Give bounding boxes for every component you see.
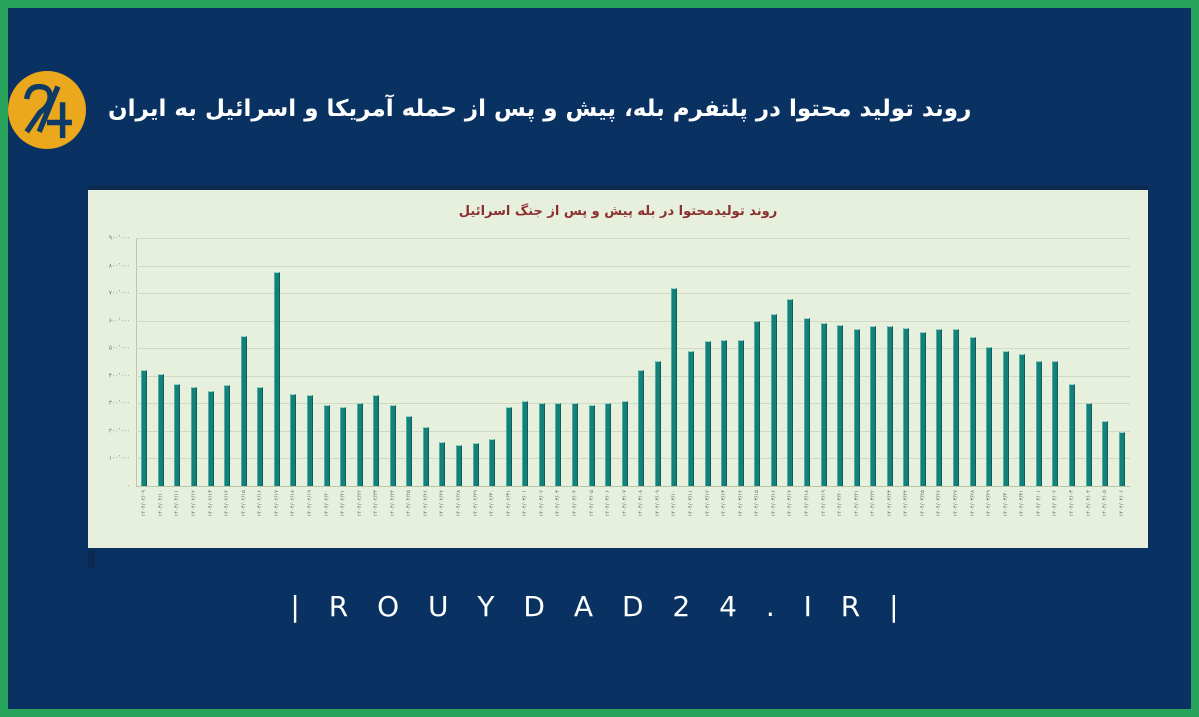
y-axis-tick-label: ۵۰۰٬۰۰۰ bbox=[109, 345, 130, 352]
bar-slot[interactable]: ۱۴۰۴/۰۲/۱۱ bbox=[169, 238, 186, 486]
x-axis-tick-label: ۱۴۰۴/۰۳/۲۰ bbox=[837, 490, 843, 517]
y-axis-tick-label: ۰ bbox=[127, 483, 130, 490]
bar-slot[interactable]: ۱۴۰۴/۰۳/۱۳ bbox=[716, 238, 733, 486]
x-axis-tick-label: ۱۴۰۴/۰۲/۲۲ bbox=[357, 490, 363, 517]
x-axis-tick-label: ۱۴۰۴/۰۳/۲۲ bbox=[870, 490, 876, 517]
bar[interactable] bbox=[324, 405, 330, 486]
bar[interactable] bbox=[837, 325, 843, 486]
bar[interactable] bbox=[655, 361, 661, 486]
bar-slot[interactable]: ۱۴۰۴/۰۳/۲۱ bbox=[848, 238, 865, 486]
bar-slot[interactable]: ۱۴۰۴/۰۲/۱۸ bbox=[285, 238, 302, 486]
bar-slot[interactable]: ۱۴۰۴/۰۲/۲۳ bbox=[368, 238, 385, 486]
bar-slot[interactable]: ۱۴۰۴/۰۴/۰۱ bbox=[1031, 238, 1048, 486]
bar[interactable] bbox=[1003, 351, 1009, 486]
bar-slot[interactable]: ۱۴۰۴/۰۳/۲۴ bbox=[898, 238, 915, 486]
bar[interactable] bbox=[439, 442, 445, 486]
x-axis-tick-label: ۱۴۰۴/۰۳/۰۶ bbox=[605, 490, 611, 517]
x-axis-tick-label: ۱۴۰۴/۰۳/۰۱ bbox=[522, 490, 528, 517]
bar-slot[interactable]: ۱۴۰۴/۰۳/۱۷ bbox=[782, 238, 799, 486]
bar[interactable] bbox=[920, 332, 926, 486]
plot-area: ۹۰۰٬۰۰۰۸۰۰٬۰۰۰۷۰۰٬۰۰۰۶۰۰٬۰۰۰۵۰۰٬۰۰۰۴۰۰٬۰… bbox=[136, 238, 1130, 486]
panel-top-rule bbox=[88, 186, 1148, 190]
x-axis-tick-label: ۱۴۰۴/۰۲/۱۹ bbox=[307, 490, 313, 517]
bar-slot[interactable]: ۱۴۰۴/۰۳/۱۲ bbox=[699, 238, 716, 486]
bar[interactable] bbox=[671, 288, 677, 486]
bar[interactable] bbox=[721, 340, 727, 486]
x-axis-tick-label: ۱۴۰۴/۰۳/۲۹ bbox=[986, 490, 992, 517]
bar[interactable] bbox=[986, 347, 992, 486]
x-axis-tick-label: ۱۴۰۴/۰۲/۲۱ bbox=[340, 490, 346, 517]
y-axis-tick-label: ۶۰۰٬۰۰۰ bbox=[109, 317, 130, 324]
bar-slot[interactable]: ۱۴۰۴/۰۳/۲۷ bbox=[948, 238, 965, 486]
x-axis-tick-label: ۱۴۰۴/۰۴/۰۵ bbox=[1102, 490, 1108, 517]
bar[interactable] bbox=[572, 403, 578, 486]
y-axis-tick-label: ۹۰۰٬۰۰۰ bbox=[109, 235, 130, 242]
x-axis-tick-label: ۱۴۰۴/۰۲/۲۳ bbox=[373, 490, 379, 517]
bar[interactable] bbox=[688, 351, 694, 486]
x-axis-tick-label: ۱۴۰۴/۰۳/۱۸ bbox=[804, 490, 810, 517]
site-watermark: | R O U Y D A D 2 4 . I R | bbox=[8, 590, 1191, 623]
x-axis-tick-label: ۱۴۰۴/۰۴/۰۳ bbox=[1069, 490, 1075, 517]
x-axis-tick-label: ۱۴۰۴/۰۲/۱۲ bbox=[191, 490, 197, 517]
x-axis-tick-label: ۱۴۰۴/۰۳/۰۵ bbox=[589, 490, 595, 517]
x-axis-tick-label: ۱۴۰۴/۰۲/۱۶ bbox=[257, 490, 263, 517]
bar[interactable] bbox=[622, 401, 628, 486]
bar-slot[interactable]: ۱۴۰۴/۰۳/۲۳ bbox=[882, 238, 899, 486]
x-axis-tick-label: ۱۴۰۴/۰۳/۱۶ bbox=[771, 490, 777, 517]
x-axis-tick-label: ۱۴۰۴/۰۳/۱۲ bbox=[705, 490, 711, 517]
bar-series: ۱۴۰۴/۰۲/۰۹۱۴۰۴/۰۲/۱۰۱۴۰۴/۰۲/۱۱۱۴۰۴/۰۲/۱۲… bbox=[136, 238, 1130, 486]
bar-slot[interactable]: ۱۴۰۴/۰۲/۳۱ bbox=[500, 238, 517, 486]
bar[interactable] bbox=[539, 403, 545, 486]
bar-slot[interactable]: ۱۴۰۴/۰۲/۲۹ bbox=[467, 238, 484, 486]
bar[interactable] bbox=[406, 416, 412, 486]
bar-slot[interactable]: ۱۴۰۴/۰۲/۳۰ bbox=[484, 238, 501, 486]
infographic-canvas: روند تولید محتوا در پلتفرم بله، پیش و پس… bbox=[8, 8, 1191, 709]
bar[interactable] bbox=[307, 395, 313, 486]
outer-green-frame: روند تولید محتوا در پلتفرم بله، پیش و پس… bbox=[0, 0, 1199, 717]
bar-slot[interactable]: ۱۴۰۴/۰۴/۰۲ bbox=[1047, 238, 1064, 486]
bar[interactable] bbox=[970, 337, 976, 486]
x-axis-tick-label: ۱۴۰۴/۰۳/۲۳ bbox=[887, 490, 893, 517]
x-axis-tick-label: ۱۴۰۴/۰۲/۱۴ bbox=[224, 490, 230, 517]
bar-slot[interactable]: ۱۴۰۴/۰۳/۰۸ bbox=[633, 238, 650, 486]
x-axis-tick-label: ۱۴۰۴/۰۳/۲۵ bbox=[920, 490, 926, 517]
bar-slot[interactable]: ۱۴۰۴/۰۳/۲۸ bbox=[964, 238, 981, 486]
bar[interactable] bbox=[141, 370, 147, 486]
y-axis-tick-label: ۴۰۰٬۰۰۰ bbox=[109, 372, 130, 379]
bar[interactable] bbox=[158, 374, 164, 486]
x-axis-tick-label: ۱۴۰۴/۰۳/۰۴ bbox=[572, 490, 578, 517]
bar-slot[interactable]: ۱۴۰۴/۰۳/۱۴ bbox=[732, 238, 749, 486]
x-axis-tick-label: ۱۴۰۴/۰۲/۲۶ bbox=[423, 490, 429, 517]
x-axis-tick-label: ۱۴۰۴/۰۲/۲۵ bbox=[406, 490, 412, 517]
bar-slot[interactable]: ۱۴۰۴/۰۴/۰۵ bbox=[1097, 238, 1114, 486]
bar-slot[interactable]: ۱۴۰۴/۰۳/۰۱ bbox=[517, 238, 534, 486]
y-axis-tick-label: ۲۰۰٬۰۰۰ bbox=[109, 427, 130, 434]
bar[interactable] bbox=[1119, 432, 1125, 486]
bar-slot[interactable]: ۱۴۰۴/۰۲/۲۸ bbox=[451, 238, 468, 486]
bar-slot[interactable]: ۱۴۰۴/۰۲/۱۶ bbox=[252, 238, 269, 486]
bar[interactable] bbox=[390, 405, 396, 486]
bar-slot[interactable]: ۱۴۰۴/۰۲/۱۲ bbox=[186, 238, 203, 486]
bar-slot[interactable]: ۱۴۰۴/۰۳/۲۹ bbox=[981, 238, 998, 486]
bar[interactable] bbox=[274, 272, 280, 486]
bar-slot[interactable]: ۱۴۰۴/۰۳/۳۰ bbox=[997, 238, 1014, 486]
bar-slot[interactable]: ۱۴۰۴/۰۲/۰۹ bbox=[136, 238, 153, 486]
chart-title: روند تولیدمحتوا در بله پیش و پس از جنگ ا… bbox=[88, 204, 1148, 219]
bar-slot[interactable]: ۱۴۰۴/۰۳/۰۲ bbox=[534, 238, 551, 486]
x-axis-tick-label: ۱۴۰۴/۰۳/۰۷ bbox=[622, 490, 628, 517]
bar-slot[interactable]: ۱۴۰۴/۰۳/۰۵ bbox=[583, 238, 600, 486]
bar[interactable] bbox=[1102, 421, 1108, 486]
x-axis-tick-label: ۱۴۰۴/۰۳/۲۴ bbox=[903, 490, 909, 517]
y-axis-tick-label: ۳۰۰٬۰۰۰ bbox=[109, 400, 130, 407]
bar-slot[interactable]: ۱۴۰۴/۰۲/۲۷ bbox=[434, 238, 451, 486]
bar-slot[interactable]: ۱۴۰۴/۰۳/۰۶ bbox=[600, 238, 617, 486]
x-axis-tick-label: ۱۴۰۴/۰۳/۳۱ bbox=[1019, 490, 1025, 517]
x-axis-tick-label: ۱۴۰۴/۰۳/۱۹ bbox=[821, 490, 827, 517]
x-axis-tick-label: ۱۴۰۴/۰۳/۲۱ bbox=[854, 490, 860, 517]
bar-slot[interactable]: ۱۴۰۴/۰۳/۰۴ bbox=[567, 238, 584, 486]
bar[interactable] bbox=[771, 314, 777, 486]
x-axis-tick-label: ۱۴۰۴/۰۳/۱۳ bbox=[721, 490, 727, 517]
x-axis-tick-label: ۱۴۰۴/۰۴/۰۱ bbox=[1036, 490, 1042, 517]
bar[interactable] bbox=[605, 403, 611, 486]
header: روند تولید محتوا در پلتفرم بله، پیش و پس… bbox=[8, 64, 1191, 156]
bar-slot[interactable]: ۱۴۰۴/۰۲/۲۴ bbox=[385, 238, 402, 486]
x-axis-tick-label: ۱۴۰۴/۰۴/۰۴ bbox=[1086, 490, 1092, 517]
bar[interactable] bbox=[340, 407, 346, 486]
page-title: روند تولید محتوا در پلتفرم بله، پیش و پس… bbox=[108, 94, 971, 125]
bar[interactable] bbox=[357, 403, 363, 486]
x-axis-tick-label: ۱۴۰۴/۰۳/۱۱ bbox=[688, 490, 694, 517]
bar[interactable] bbox=[373, 395, 379, 486]
bar[interactable] bbox=[555, 403, 561, 486]
x-axis-tick-label: ۱۴۰۴/۰۳/۲۶ bbox=[936, 490, 942, 517]
x-axis-tick-label: ۱۴۰۴/۰۲/۱۷ bbox=[274, 490, 280, 517]
bar-slot[interactable]: ۱۴۰۴/۰۲/۱۰ bbox=[153, 238, 170, 486]
bar-slot[interactable]: ۱۴۰۴/۰۳/۱۶ bbox=[766, 238, 783, 486]
bar[interactable] bbox=[257, 387, 263, 486]
x-axis-tick-label: ۱۴۰۴/۰۲/۱۱ bbox=[174, 490, 180, 517]
bar-slot[interactable]: ۱۴۰۴/۰۲/۲۱ bbox=[335, 238, 352, 486]
bar[interactable] bbox=[224, 385, 230, 486]
bar-slot[interactable]: ۱۴۰۴/۰۲/۲۶ bbox=[418, 238, 435, 486]
bar-slot[interactable]: ۱۴۰۴/۰۴/۰۶ bbox=[1113, 238, 1130, 486]
bar[interactable] bbox=[423, 427, 429, 486]
x-axis-tick-label: ۱۴۰۴/۰۳/۱۷ bbox=[787, 490, 793, 517]
bar[interactable] bbox=[290, 394, 296, 486]
bar[interactable] bbox=[638, 370, 644, 486]
bar[interactable] bbox=[1019, 354, 1025, 486]
bar[interactable] bbox=[208, 391, 214, 486]
x-axis-tick-label: ۱۴۰۴/۰۲/۱۸ bbox=[290, 490, 296, 517]
bar-slot[interactable]: ۱۴۰۴/۰۳/۳۱ bbox=[1014, 238, 1031, 486]
x-axis-tick-label: ۱۴۰۴/۰۲/۳۱ bbox=[506, 490, 512, 517]
x-axis-tick-label: ۱۴۰۴/۰۳/۰۹ bbox=[655, 490, 661, 517]
bar[interactable] bbox=[754, 321, 760, 486]
bar-slot[interactable]: ۱۴۰۴/۰۲/۲۰ bbox=[318, 238, 335, 486]
x-axis-tick-label: ۱۴۰۴/۰۲/۲۷ bbox=[439, 490, 445, 517]
x-axis-tick-label: ۱۴۰۴/۰۴/۰۶ bbox=[1119, 490, 1125, 517]
bar[interactable] bbox=[589, 405, 595, 486]
bar-slot[interactable]: ۱۴۰۴/۰۳/۰۹ bbox=[650, 238, 667, 486]
bar-slot[interactable]: ۱۴۰۴/۰۳/۱۰ bbox=[666, 238, 683, 486]
x-axis-tick-label: ۱۴۰۴/۰۴/۰۲ bbox=[1052, 490, 1058, 517]
x-axis-tick-label: ۱۴۰۴/۰۳/۰۲ bbox=[539, 490, 545, 517]
rouydad24-logo bbox=[8, 71, 86, 149]
bar[interactable] bbox=[522, 401, 528, 486]
x-axis-tick-label: ۱۴۰۴/۰۲/۱۵ bbox=[241, 490, 247, 517]
gridline bbox=[136, 486, 1130, 487]
bar-slot[interactable]: ۱۴۰۴/۰۳/۲۵ bbox=[915, 238, 932, 486]
x-axis-tick-label: ۱۴۰۴/۰۲/۳۰ bbox=[489, 490, 495, 517]
x-axis-tick-label: ۱۴۰۴/۰۳/۲۷ bbox=[953, 490, 959, 517]
bar[interactable] bbox=[821, 323, 827, 486]
bar-slot[interactable]: ۱۴۰۴/۰۳/۱۹ bbox=[815, 238, 832, 486]
bar-slot[interactable]: ۱۴۰۴/۰۳/۱۵ bbox=[749, 238, 766, 486]
bar[interactable] bbox=[1069, 384, 1075, 486]
bar-slot[interactable]: ۱۴۰۴/۰۲/۱۵ bbox=[235, 238, 252, 486]
bar[interactable] bbox=[506, 407, 512, 486]
x-axis-tick-label: ۱۴۰۴/۰۲/۲۸ bbox=[456, 490, 462, 517]
bar[interactable] bbox=[241, 336, 247, 486]
bar[interactable] bbox=[953, 329, 959, 486]
bar[interactable] bbox=[903, 328, 909, 486]
bar-slot[interactable]: ۱۴۰۴/۰۲/۱۹ bbox=[302, 238, 319, 486]
bar[interactable] bbox=[936, 329, 942, 486]
x-axis-tick-label: ۱۴۰۴/۰۳/۱۰ bbox=[671, 490, 677, 517]
bar-slot[interactable]: ۱۴۰۴/۰۳/۲۶ bbox=[931, 238, 948, 486]
bar-slot[interactable]: ۱۴۰۴/۰۳/۲۰ bbox=[832, 238, 849, 486]
chart-panel: روند تولیدمحتوا در بله پیش و پس از جنگ ا… bbox=[88, 186, 1148, 548]
bar[interactable] bbox=[191, 387, 197, 486]
panel-corner-marker bbox=[88, 550, 95, 568]
x-axis-tick-label: ۱۴۰۴/۰۲/۲۰ bbox=[324, 490, 330, 517]
bar[interactable] bbox=[804, 318, 810, 486]
bar-slot[interactable]: ۱۴۰۴/۰۲/۱۷ bbox=[269, 238, 286, 486]
x-axis-tick-label: ۱۴۰۴/۰۳/۲۸ bbox=[970, 490, 976, 517]
x-axis-tick-label: ۱۴۰۴/۰۲/۲۴ bbox=[390, 490, 396, 517]
x-axis-tick-label: ۱۴۰۴/۰۳/۰۳ bbox=[555, 490, 561, 517]
bar-slot[interactable]: ۱۴۰۴/۰۳/۰۳ bbox=[550, 238, 567, 486]
bar[interactable] bbox=[1086, 403, 1092, 486]
bar[interactable] bbox=[870, 326, 876, 486]
bar-slot[interactable]: ۱۴۰۴/۰۲/۱۳ bbox=[202, 238, 219, 486]
bar[interactable] bbox=[456, 445, 462, 486]
x-axis-tick-label: ۱۴۰۴/۰۳/۱۵ bbox=[754, 490, 760, 517]
bar[interactable] bbox=[738, 340, 744, 486]
y-axis-tick-label: ۸۰۰٬۰۰۰ bbox=[109, 262, 130, 269]
bar-slot[interactable]: ۱۴۰۴/۰۳/۰۷ bbox=[616, 238, 633, 486]
bar[interactable] bbox=[174, 384, 180, 486]
bar-slot[interactable]: ۱۴۰۴/۰۴/۰۳ bbox=[1064, 238, 1081, 486]
bar-slot[interactable]: ۱۴۰۴/۰۲/۲۵ bbox=[401, 238, 418, 486]
bar[interactable] bbox=[1052, 361, 1058, 486]
bar-slot[interactable]: ۱۴۰۴/۰۲/۱۴ bbox=[219, 238, 236, 486]
bar[interactable] bbox=[473, 443, 479, 486]
bar[interactable] bbox=[1036, 361, 1042, 486]
bar-slot[interactable]: ۱۴۰۴/۰۲/۲۲ bbox=[351, 238, 368, 486]
x-axis-tick-label: ۱۴۰۴/۰۳/۱۴ bbox=[738, 490, 744, 517]
bar-slot[interactable]: ۱۴۰۴/۰۳/۲۲ bbox=[865, 238, 882, 486]
bar[interactable] bbox=[887, 326, 893, 486]
x-axis-tick-label: ۱۴۰۴/۰۳/۳۰ bbox=[1003, 490, 1009, 517]
bar[interactable] bbox=[854, 329, 860, 486]
bar[interactable] bbox=[489, 439, 495, 486]
bar[interactable] bbox=[705, 341, 711, 486]
bar-slot[interactable]: ۱۴۰۴/۰۳/۱۸ bbox=[799, 238, 816, 486]
y-axis-tick-label: ۷۰۰٬۰۰۰ bbox=[109, 290, 130, 297]
bar-slot[interactable]: ۱۴۰۴/۰۴/۰۴ bbox=[1080, 238, 1097, 486]
x-axis-tick-label: ۱۴۰۴/۰۲/۱۳ bbox=[208, 490, 214, 517]
x-axis-tick-label: ۱۴۰۴/۰۲/۲۹ bbox=[473, 490, 479, 517]
x-axis-tick-label: ۱۴۰۴/۰۲/۰۹ bbox=[141, 490, 147, 517]
x-axis-tick-label: ۱۴۰۴/۰۳/۰۸ bbox=[638, 490, 644, 517]
bar-slot[interactable]: ۱۴۰۴/۰۳/۱۱ bbox=[683, 238, 700, 486]
y-axis-tick-label: ۱۰۰٬۰۰۰ bbox=[109, 455, 130, 462]
bar[interactable] bbox=[787, 299, 793, 486]
x-axis-tick-label: ۱۴۰۴/۰۲/۱۰ bbox=[158, 490, 164, 517]
